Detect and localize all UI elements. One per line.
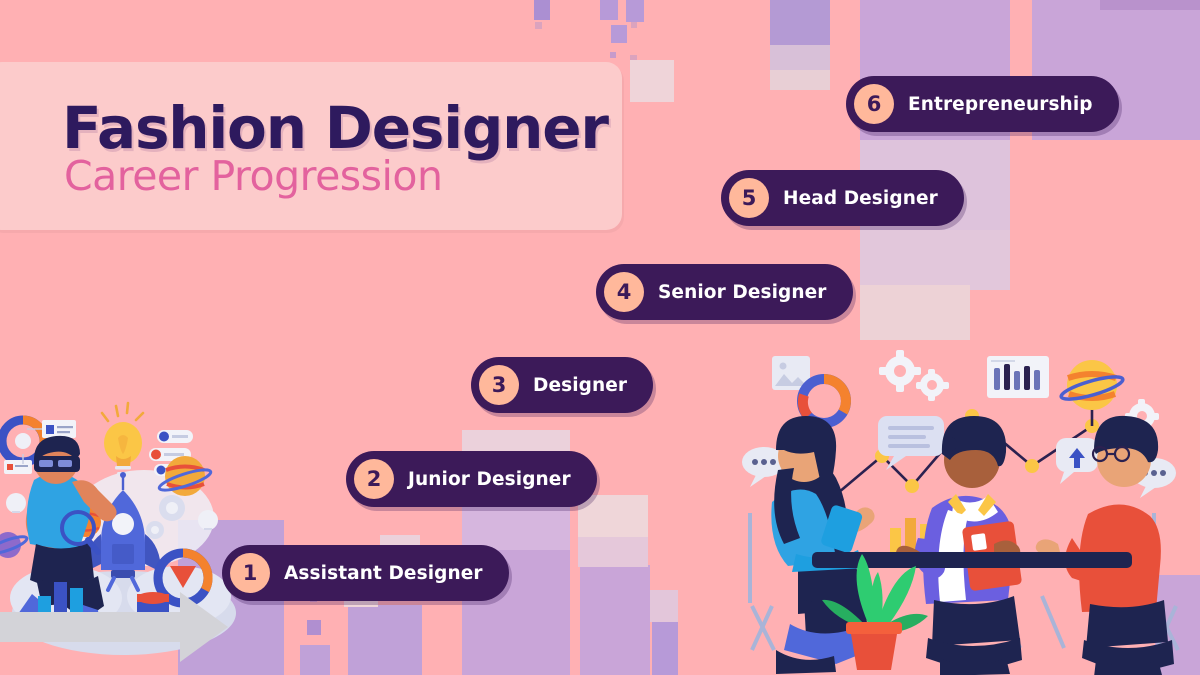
bg-block <box>650 590 678 622</box>
bg-block <box>578 535 648 567</box>
step-pill-4[interactable]: 4 Senior Designer <box>596 264 853 320</box>
planet-icon <box>1059 360 1124 410</box>
lightbulb-icon <box>102 403 143 475</box>
step-number-badge: 5 <box>729 178 769 218</box>
step-number-badge: 3 <box>479 365 519 405</box>
gear-icon <box>916 369 949 401</box>
page-subtitle: Career Progression <box>64 152 442 200</box>
bg-block <box>1100 0 1200 10</box>
planet-icon <box>0 532 29 558</box>
up-arrow-badge <box>1056 438 1098 484</box>
step-label: Designer <box>533 375 627 396</box>
slide-canvas: Fashion Designer Career Progression 1 As… <box>0 0 1200 675</box>
step-pill-5[interactable]: 5 Head Designer <box>721 170 964 226</box>
bg-block <box>630 60 674 102</box>
progress-arrow-shaft <box>0 612 190 642</box>
step-pill-3[interactable]: 3 Designer <box>471 357 653 413</box>
step-label: Assistant Designer <box>284 563 483 584</box>
bg-dot <box>611 25 627 43</box>
step-number-badge: 4 <box>604 272 644 312</box>
bg-block <box>652 620 678 675</box>
step-number-badge: 2 <box>354 459 394 499</box>
bg-block <box>860 285 970 340</box>
planet-icon <box>157 456 212 496</box>
bg-dot <box>626 0 644 22</box>
bg-block <box>770 0 830 50</box>
step-number-badge: 6 <box>854 84 894 124</box>
step-label: Senior Designer <box>658 282 827 303</box>
step-pill-2[interactable]: 2 Junior Designer <box>346 451 597 507</box>
bg-dot <box>631 22 637 28</box>
bg-block <box>860 230 1010 290</box>
bg-dot <box>535 22 542 29</box>
bg-dot <box>610 52 616 58</box>
bg-block <box>578 495 648 537</box>
step-pill-6[interactable]: 6 Entrepreneurship <box>846 76 1119 132</box>
bg-block <box>770 70 830 90</box>
bg-dot <box>534 0 550 20</box>
bg-dot <box>307 620 321 635</box>
progress-arrow-head <box>180 592 228 662</box>
step-pill-1[interactable]: 1 Assistant Designer <box>222 545 509 601</box>
bg-block <box>580 565 650 675</box>
step-label: Entrepreneurship <box>908 94 1093 115</box>
step-label: Head Designer <box>783 188 938 209</box>
bg-block <box>348 605 422 675</box>
gear-icon <box>879 350 921 392</box>
step-label: Junior Designer <box>408 469 571 490</box>
bar-chart-card <box>987 356 1049 398</box>
bg-block <box>300 645 330 675</box>
team-meeting-illustration <box>742 338 1200 675</box>
bg-dot <box>600 0 618 20</box>
step-number-badge: 1 <box>230 553 270 593</box>
